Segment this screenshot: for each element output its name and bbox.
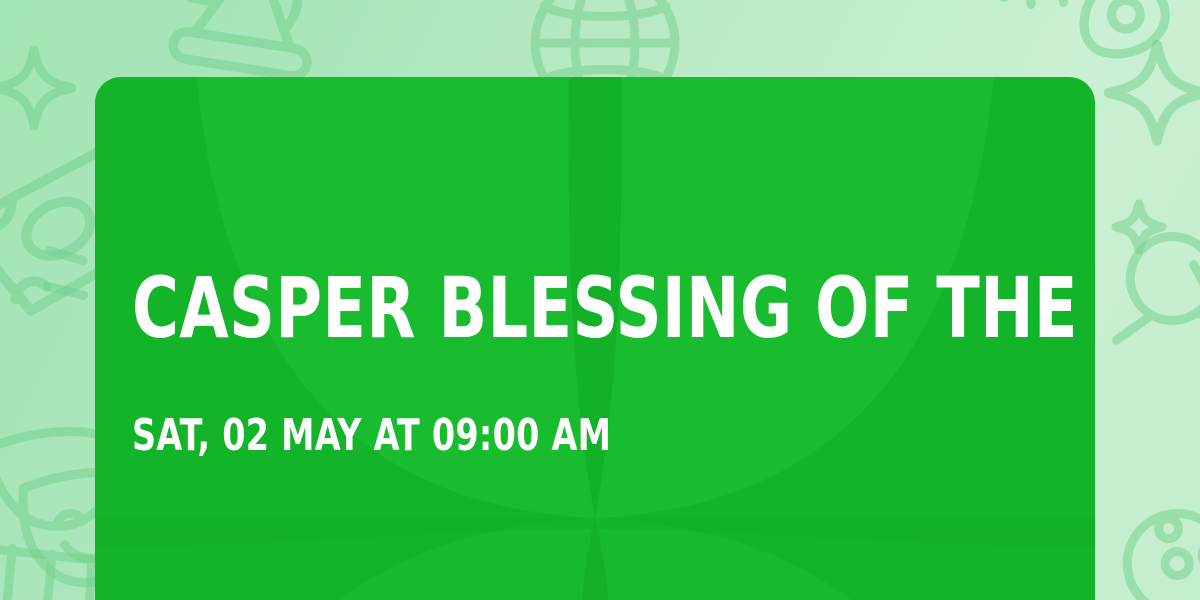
event-poster: Casper Blessing of the Bikes Sat, 02 May… [0,0,1200,600]
sparkle-small-icon [1110,198,1168,256]
card-text-block: Casper Blessing of the Bikes Sat, 02 May… [132,77,1055,600]
event-title: Casper Blessing of the Bikes [132,267,912,349]
event-datetime: Sat, 02 May at 09:00 AM [132,414,611,458]
microphone-icon [1098,212,1200,390]
event-card[interactable]: Casper Blessing of the Bikes Sat, 02 May… [95,77,1095,600]
sparkle-icon [1098,34,1200,152]
sparkle-left-icon [0,40,82,136]
film-reel-icon [1102,482,1200,600]
